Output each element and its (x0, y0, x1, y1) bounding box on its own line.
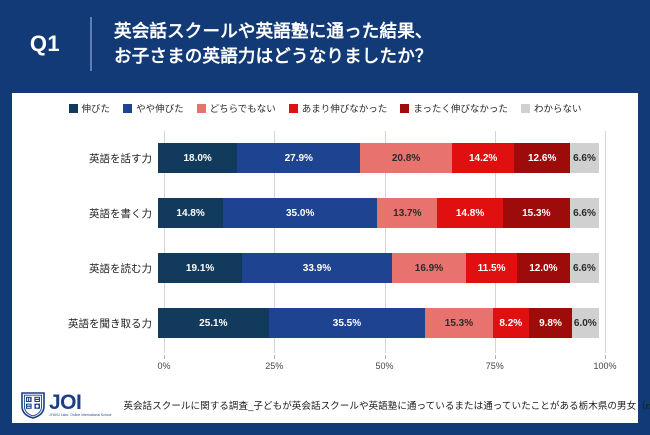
slide-root: Q1 英会話スクールや英語塾に通った結果、 お子さまの英語力はどうなりましたか？… (0, 0, 650, 435)
bar-segment[interactable]: 11.5% (466, 253, 517, 283)
bar-segment[interactable]: 14.8% (158, 198, 223, 228)
stacked-bar: 25.1%35.5%15.3%8.2%9.8%6.0% (158, 308, 599, 338)
legend-item[interactable]: どちらでもない (197, 101, 276, 115)
legend-swatch-icon (400, 104, 409, 113)
legend-item[interactable]: わからない (521, 101, 582, 115)
legend-item[interactable]: 伸びた (69, 101, 111, 115)
chart-legend: 伸びたやや伸びたどちらでもないあまり伸びなかったまったく伸びなかったわからない (12, 101, 638, 115)
legend-label: あまり伸びなかった (302, 101, 388, 115)
bar-segment[interactable]: 27.9% (237, 143, 360, 173)
bar-segment[interactable]: 9.8% (529, 308, 572, 338)
x-tick-mark (274, 355, 275, 359)
bar-segment[interactable]: 13.7% (377, 198, 437, 228)
x-tick-label: 0% (157, 361, 170, 371)
x-tick-mark (495, 355, 496, 359)
stacked-bar: 19.1%33.9%16.9%11.5%12.0%6.6% (158, 253, 599, 283)
x-tick-mark (385, 355, 386, 359)
legend-swatch-icon (521, 104, 530, 113)
bar-segment[interactable]: 6.6% (570, 198, 599, 228)
legend-label: 伸びた (82, 101, 111, 115)
chart-bar-row: 英語を話す力18.0%27.9%20.8%14.2%12.6%6.6% (12, 143, 638, 173)
header: Q1 英会話スクールや英語塾に通った結果、 お子さまの英語力はどうなりましたか？ (0, 0, 650, 88)
category-label: 英語を話す力 (12, 151, 158, 166)
page-title-line-1: 英会話スクールや英語塾に通った結果、 (114, 19, 433, 44)
bar-segment[interactable]: 12.6% (514, 143, 570, 173)
bar-segment[interactable]: 33.9% (242, 253, 391, 283)
bar-segment[interactable]: 6.0% (572, 308, 598, 338)
x-tick-mark (605, 355, 606, 359)
footer-caption: 英会話スクールに関する調査_子どもが英会話スクールや英語塾に通っているまたは通っ… (123, 398, 650, 412)
legend-item[interactable]: まったく伸びなかった (400, 101, 508, 115)
bar-segment[interactable]: 35.0% (223, 198, 377, 228)
x-tick-label: 50% (375, 361, 393, 371)
legend-swatch-icon (197, 104, 206, 113)
bar-segment[interactable]: 16.9% (392, 253, 467, 283)
header-divider (90, 17, 92, 71)
bar-segment[interactable]: 19.1% (158, 253, 242, 283)
question-number: Q1 (0, 31, 90, 57)
chart-panel: 伸びたやや伸びたどちらでもないあまり伸びなかったまったく伸びなかったわからない … (12, 93, 638, 387)
bar-segment[interactable]: 35.5% (269, 308, 426, 338)
legend-item[interactable]: やや伸びた (123, 101, 184, 115)
joi-logo-text: JOI (49, 392, 111, 413)
stacked-bar: 14.8%35.0%13.7%14.8%15.3%6.6% (158, 198, 599, 228)
legend-label: やや伸びた (136, 101, 184, 115)
joi-logo-subtitle: JYUKU Labo. Online International School (49, 414, 111, 417)
bar-segment[interactable]: 18.0% (158, 143, 237, 173)
bar-segment[interactable]: 6.6% (570, 253, 599, 283)
page-title-line-2: お子さまの英語力はどうなりましたか？ (114, 44, 433, 69)
bar-segment[interactable]: 14.8% (437, 198, 502, 228)
x-tick-label: 100% (593, 361, 616, 371)
joi-wordmark: JOI JYUKU Labo. Online International Sch… (49, 392, 111, 417)
chart-bar-rows: 英語を話す力18.0%27.9%20.8%14.2%12.6%6.6%英語を書く… (12, 131, 638, 353)
bar-segment[interactable]: 20.8% (360, 143, 452, 173)
bar-segment[interactable]: 15.3% (503, 198, 570, 228)
legend-label: わからない (534, 101, 582, 115)
chart-axis-baseline (164, 353, 606, 354)
legend-swatch-icon (123, 104, 132, 113)
chart-x-axis: 0%25%50%75%100% (164, 355, 605, 375)
footer: JOI JYUKU Labo. Online International Sch… (12, 387, 638, 423)
legend-swatch-icon (69, 104, 78, 113)
chart-plot-area: 英語を話す力18.0%27.9%20.8%14.2%12.6%6.6%英語を書く… (12, 131, 638, 387)
legend-item[interactable]: あまり伸びなかった (289, 101, 388, 115)
bar-segment[interactable]: 6.6% (570, 143, 599, 173)
category-label: 英語を読む力 (12, 261, 158, 276)
chart-bar-row: 英語を読む力19.1%33.9%16.9%11.5%12.0%6.6% (12, 253, 638, 283)
stacked-bar: 18.0%27.9%20.8%14.2%12.6%6.6% (158, 143, 599, 173)
chart-bar-row: 英語を聞き取る力25.1%35.5%15.3%8.2%9.8%6.0% (12, 308, 638, 338)
category-label: 英語を聞き取る力 (12, 316, 158, 331)
legend-label: どちらでもない (210, 101, 276, 115)
bar-segment[interactable]: 15.3% (425, 308, 492, 338)
category-label: 英語を書く力 (12, 206, 158, 221)
x-tick-label: 25% (265, 361, 283, 371)
joi-logo: JOI JYUKU Labo. Online International Sch… (20, 391, 111, 419)
bar-segment[interactable]: 14.2% (452, 143, 515, 173)
bar-segment[interactable]: 12.0% (517, 253, 570, 283)
legend-label: まったく伸びなかった (413, 101, 508, 115)
bar-segment[interactable]: 8.2% (493, 308, 529, 338)
x-tick-label: 75% (486, 361, 504, 371)
bar-segment[interactable]: 25.1% (158, 308, 269, 338)
chart-bar-row: 英語を書く力14.8%35.0%13.7%14.8%15.3%6.6% (12, 198, 638, 228)
legend-swatch-icon (289, 104, 298, 113)
page-title: 英会話スクールや英語塾に通った結果、 お子さまの英語力はどうなりましたか？ (114, 19, 433, 70)
shield-crest-icon (20, 391, 46, 419)
x-tick-mark (164, 355, 165, 359)
